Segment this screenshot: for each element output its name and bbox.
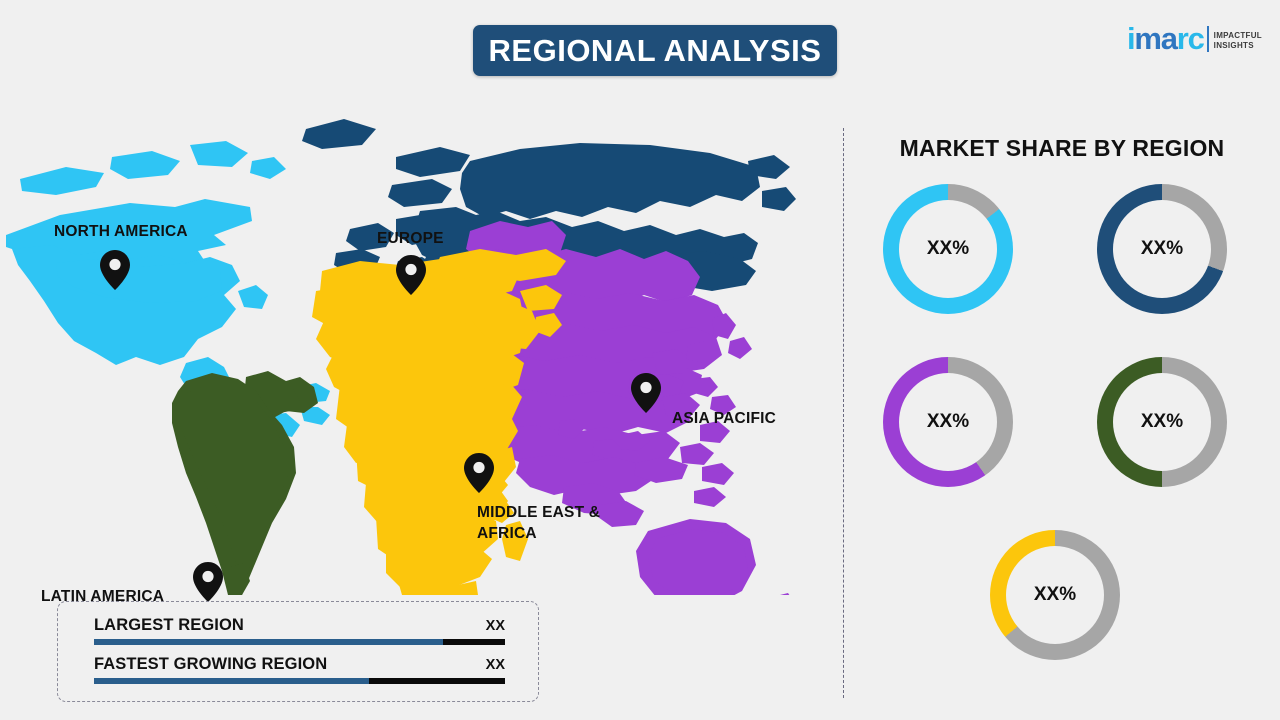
market-share-heading: MARKET SHARE BY REGION [852, 135, 1272, 162]
map-label-asia-pacific: ASIA PACIFIC [672, 408, 776, 429]
legend-summary-box: LARGEST REGION XX FASTEST GROWING REGION… [57, 601, 539, 702]
donut-chart-middle-east-africa: XX% [990, 530, 1120, 660]
legend-value-largest-region: XX [486, 618, 505, 634]
donut-value-asia-pacific: XX% [927, 411, 969, 433]
logo-tagline: IMPACTFUL INSIGHTS [1214, 31, 1262, 54]
logo-divider [1207, 26, 1209, 52]
legend-bar-fastest-growing-region [94, 678, 505, 684]
donut-center-latin-america: XX% [1113, 373, 1211, 471]
map-label-europe: EUROPE [377, 228, 444, 249]
legend-bar-largest-region [94, 639, 505, 645]
donut-center-middle-east-africa: XX% [1006, 546, 1104, 644]
legend-bar-fill-largest-region [94, 639, 443, 645]
legend-value-fastest-growing-region: XX [486, 657, 505, 673]
donut-center-north-america: XX% [899, 200, 997, 298]
donut-value-latin-america: XX% [1141, 411, 1183, 433]
map-pin-icon-north-america[interactable] [100, 250, 130, 290]
donut-value-europe: XX% [1141, 238, 1183, 260]
donut-center-asia-pacific: XX% [899, 373, 997, 471]
donut-chart-north-america: XX% [883, 184, 1013, 314]
map-label-middle-east-africa: MIDDLE EAST & AFRICA [477, 502, 637, 544]
donut-chart-latin-america: XX% [1097, 357, 1227, 487]
legend-bar-fill-fastest-growing-region [94, 678, 369, 684]
legend-label-fastest-growing-region: FASTEST GROWING REGION [94, 655, 327, 674]
donut-value-north-america: XX% [927, 238, 969, 260]
world-map-panel: NORTH AMERICA EUROPE ASIA PACIFIC MIDDLE… [0, 95, 830, 595]
map-pin-icon-europe[interactable] [396, 255, 426, 295]
map-pin-icon-asia-pacific[interactable] [631, 373, 661, 413]
logo-text-primary: ima [1127, 21, 1177, 56]
brand-logo: imarc IMPACTFUL INSIGHTS [1127, 20, 1262, 54]
donut-chart-grid: XX% XX% XX% XX% XX% [852, 184, 1272, 664]
donut-value-middle-east-africa: XX% [1034, 584, 1076, 606]
page-title: REGIONAL ANALYSIS [489, 33, 822, 69]
logo-tagline-line1: IMPACTFUL [1214, 31, 1262, 41]
donut-chart-europe: XX% [1097, 184, 1227, 314]
legend-row-fastest-growing-region: FASTEST GROWING REGION XX [94, 655, 505, 684]
legend-label-largest-region: LARGEST REGION [94, 616, 244, 635]
donut-center-europe: XX% [1113, 200, 1211, 298]
logo-wordmark: imarc [1127, 24, 1204, 54]
map-label-north-america: NORTH AMERICA [54, 221, 188, 242]
world-map-graphic [0, 95, 830, 595]
page-title-banner: REGIONAL ANALYSIS [473, 25, 837, 76]
logo-text-secondary: rc [1177, 21, 1204, 56]
map-pin-icon-middle-east-africa[interactable] [464, 453, 494, 493]
map-pin-icon-latin-america[interactable] [193, 562, 223, 602]
panel-divider [843, 128, 844, 698]
logo-tagline-line2: INSIGHTS [1214, 41, 1262, 51]
donut-chart-asia-pacific: XX% [883, 357, 1013, 487]
legend-row-largest-region: LARGEST REGION XX [94, 616, 505, 645]
market-share-panel: MARKET SHARE BY REGION XX% XX% XX% XX% X… [852, 125, 1272, 695]
